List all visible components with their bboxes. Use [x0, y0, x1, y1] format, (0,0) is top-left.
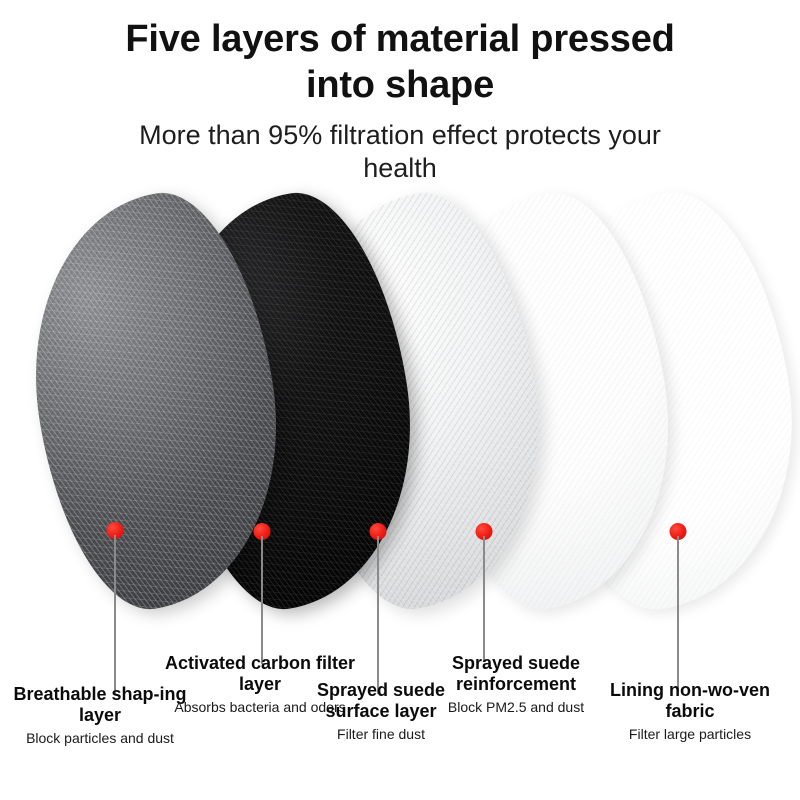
- caption-subtitle: Block particles and dust: [4, 730, 196, 747]
- leader-line: [377, 536, 379, 694]
- page-title: Five layers of material pressed into sha…: [90, 16, 710, 109]
- leader-line: [261, 536, 263, 664]
- caption-title: Lining non-wo-ven fabric: [600, 680, 780, 722]
- caption-subtitle: Filter fine dust: [296, 726, 466, 743]
- leader-line: [114, 535, 116, 695]
- caption-lining-non-woven-fabric: Lining non-wo-ven fabric Filter large pa…: [600, 680, 780, 743]
- leader-line: [483, 536, 485, 662]
- header: Five layers of material pressed into sha…: [0, 0, 800, 186]
- mask-layer-stack: [0, 196, 800, 626]
- caption-subtitle: Filter large particles: [600, 726, 780, 743]
- page-subtitle: More than 95% filtration effect protects…: [120, 119, 680, 186]
- caption-sprayed-suede-reinforcement: Sprayed suede reinforcement Block PM2.5 …: [428, 653, 604, 716]
- leader-line: [677, 536, 679, 692]
- caption-subtitle: Block PM2.5 and dust: [428, 699, 604, 716]
- caption-title: Sprayed suede reinforcement: [428, 653, 604, 695]
